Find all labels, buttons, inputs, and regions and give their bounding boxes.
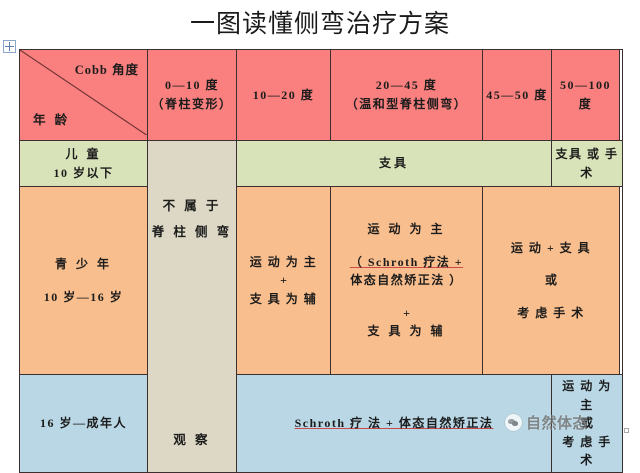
cell-adult-45-100-line3: 考 虑 手 术 [555,433,619,470]
observe-cell-line1: 不 属 于 [148,193,236,219]
cell-teen-45-100: 运 动 + 支 具 或 考 虑 手 术 [483,187,620,375]
header-cell-0-10: 0—10 度 （脊柱变形） [148,50,237,141]
cell-teen-20-45: 运 动 为 主 （ Schroth 疗法 + 体态自然矫正法 ） + 支 具 为… [331,187,483,375]
cell-adult-45-100-line1: 运 动 为 主 [555,377,619,414]
cell-teen-45-100-line1: 运 动 + 支 具 [486,239,616,258]
age-cell-teen-line1: 青 少 年 [23,255,144,274]
cell-adult-10-45-text: Schroth 疗 法 + 体态自然矫正法 [295,416,494,430]
document-end-marker [624,428,629,433]
table-row: 儿 童 10 岁以下 不 属 于 脊 柱 侧 弯 观 察 支具 支具 或 手术 [20,141,623,187]
cell-adult-10-45: Schroth 疗 法 + 体态自然矫正法 [237,375,552,473]
cell-teen-10-20: 运 动 为 主 + 支 具 为 辅 [237,187,331,375]
header-cell-50-100-line2: 度 [555,95,616,114]
header-cell-45-50-line1: 45—50 度 [486,86,548,105]
axis-corner-cell: Cobb 角度 年 龄 [20,50,148,141]
cell-teen-20-45-line4: + [334,304,479,323]
cell-teen-20-45-line1: 运 动 为 主 [334,220,479,239]
table-header-row: Cobb 角度 年 龄 0—10 度 （脊柱变形） 10—20 度 20—45 … [20,50,623,141]
header-cell-45-50: 45—50 度 [483,50,552,141]
observe-cell-top: 不 属 于 脊 柱 侧 弯 [148,193,236,246]
age-cell-teen: 青 少 年 10 岁—16 岁 [20,187,148,375]
observe-cell-line3: 观 察 [148,431,236,450]
header-cell-20-45: 20—45 度 （温和型脊柱侧弯） [331,50,483,141]
cell-child-brace-text: 支具 [379,156,409,170]
table-row: 青 少 年 10 岁—16 岁 运 动 为 主 + 支 具 为 辅 运 动 为 … [20,187,623,375]
header-cell-10-20: 10—20 度 [237,50,331,141]
age-cell-child-line2: 10 岁以下 [23,164,144,183]
cell-teen-10-20-line3: 支 具 为 辅 [240,290,327,309]
cell-teen-45-100-line3: 考 虑 手 术 [486,304,616,323]
row-axis-label: 年 龄 [33,111,70,130]
header-cell-0-10-line2: （脊柱变形） [151,95,233,114]
header-cell-20-45-line1: 20—45 度 [334,76,479,95]
cell-child-brace: 支具 [237,141,552,187]
cell-adult-45-100-line2: 或 [555,414,619,433]
cell-teen-45-100-line2: 或 [486,271,616,290]
header-cell-50-100: 50—100 度 [552,50,620,141]
cell-teen-20-45-line5: 支 具 为 辅 [334,322,479,341]
cell-teen-20-45-line3: 体态自然矫正法 ） [334,271,479,290]
cell-child-brace-or-surgery: 支具 或 手术 [552,141,623,187]
cell-not-scoliosis-observe: 不 属 于 脊 柱 侧 弯 观 察 [148,141,237,473]
column-axis-label: Cobb 角度 [75,61,139,80]
age-cell-adult: 16 岁—成年人 [20,375,148,473]
age-cell-adult-line1: 16 岁—成年人 [23,414,144,433]
cell-teen-10-20-line2: + [240,271,327,290]
age-cell-teen-line2: 10 岁—16 岁 [23,288,144,307]
header-cell-50-100-line1: 50—100 [555,76,616,95]
header-cell-20-45-line2: （温和型脊柱侧弯） [334,95,479,114]
cell-teen-20-45-line2: （ Schroth 疗法 + [334,253,479,272]
age-cell-child: 儿 童 10 岁以下 [20,141,148,187]
table-row: 16 岁—成年人 Schroth 疗 法 + 体态自然矫正法 运 动 为 主 或… [20,375,623,473]
cell-adult-45-100: 运 动 为 主 或 考 虑 手 术 [552,375,623,473]
scoliosis-treatment-table: Cobb 角度 年 龄 0—10 度 （脊柱变形） 10—20 度 20—45 … [19,49,623,473]
treatment-plan-table-wrapper: Cobb 角度 年 龄 0—10 度 （脊柱变形） 10—20 度 20—45 … [19,49,623,473]
cell-child-brace-or-surgery-text: 支具 或 手术 [555,147,618,180]
age-cell-child-line1: 儿 童 [23,145,144,164]
page-title: 一图读懂侧弯治疗方案 [0,4,640,40]
header-cell-10-20-line1: 10—20 度 [240,86,327,105]
observe-cell-line2: 脊 柱 侧 弯 [148,219,236,245]
cell-teen-10-20-line1: 运 动 为 主 [240,253,327,272]
header-cell-0-10-line1: 0—10 度 [151,76,233,95]
table-move-handle-icon[interactable] [3,40,16,53]
